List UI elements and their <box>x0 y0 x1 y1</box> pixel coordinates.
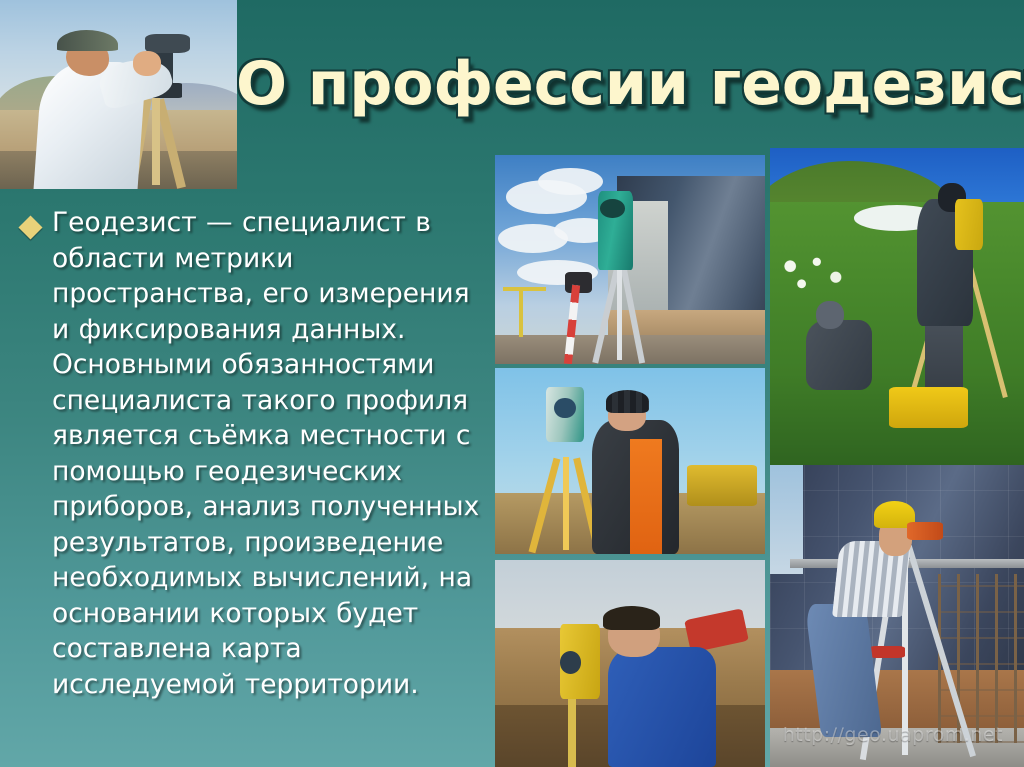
theodolite-lens <box>600 199 624 218</box>
yellow-theodolite-icon <box>955 199 983 250</box>
tripod-leg-3 <box>617 268 622 360</box>
total-station-lens <box>554 398 576 418</box>
crane-arm <box>503 287 546 291</box>
crane-mast <box>519 287 522 337</box>
tripod-leg-3 <box>563 457 569 550</box>
orange-safety-vest <box>630 439 662 554</box>
diamond-bullet-icon <box>18 215 42 239</box>
presentation-slide: О профессии геодезист. <box>0 0 1024 767</box>
theodolite-ground <box>495 335 765 364</box>
bulldozer <box>687 465 757 506</box>
image-beanie-surveyor <box>495 368 765 554</box>
rebar-cage <box>938 574 1024 743</box>
image-surveyor-painting <box>0 0 237 189</box>
painting-theodolite-icon <box>145 34 190 53</box>
image-meadow-surveyors <box>770 148 1024 466</box>
sky-sliver <box>770 465 803 574</box>
body-bullet-block: Геодезист — специалист в области метрики… <box>22 205 492 702</box>
white-flowers <box>775 253 851 298</box>
knit-beanie <box>606 390 649 412</box>
seated-surveyor-head <box>816 301 844 330</box>
image-hardhat-surveyor: http://geo.uaprom.net <box>770 465 1024 767</box>
cloud-shape <box>538 168 603 195</box>
instrument-case <box>889 387 968 428</box>
surveyor-blue-jacket <box>608 647 716 767</box>
tripod-leg <box>568 697 576 767</box>
image-theodolite-city <box>495 155 765 364</box>
painting-surveyor-hands <box>133 51 161 76</box>
image-blue-jacket-surveyor <box>495 560 765 767</box>
surveyor-hair <box>603 606 660 631</box>
body-paragraph: Геодезист — специалист в области метрики… <box>52 205 492 702</box>
slide-title: О профессии геодезист. <box>236 48 1024 120</box>
seated-surveyor-body <box>806 320 872 390</box>
painting-tripod-leg-3 <box>152 98 160 185</box>
total-station-lens <box>560 651 582 674</box>
optical-level-icon <box>907 522 943 540</box>
tripod-clamp <box>869 646 905 658</box>
